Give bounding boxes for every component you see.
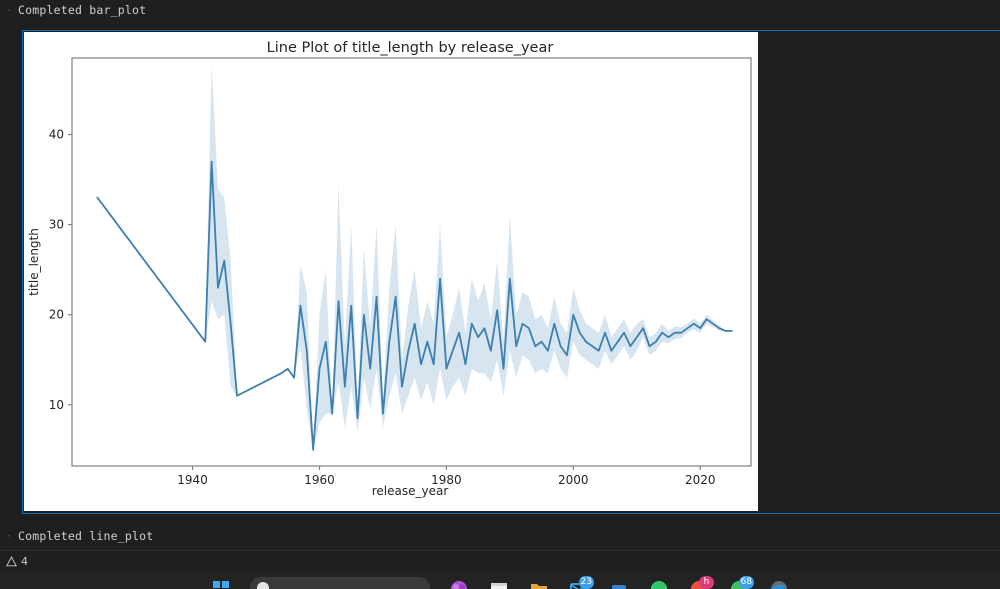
console-log-line-line-plot: · Completed line_plot [0,526,153,546]
log-message-text: Completed line_plot [18,529,153,543]
x-tick-label: 1940 [177,473,208,487]
y-axis-label: title_length [27,228,41,296]
status-bar: 4 [0,550,1000,571]
matplotlib-figure-output[interactable]: Line Plot of title_length by release_yea… [24,32,758,511]
warning-triangle-icon [6,556,17,567]
windows-start-icon[interactable] [210,577,232,589]
vscode-notebook-window: · Completed bar_plot Line Plot of title_… [0,0,1000,589]
warning-count-label: 4 [21,555,28,568]
file-explorer-icon[interactable] [488,577,510,589]
chat-badge: h [699,576,714,589]
copilot-icon[interactable] [448,577,470,589]
status-warnings-item[interactable]: 4 [0,551,34,571]
taskbar-search-pill[interactable] [250,577,430,589]
x-tick-label: 2020 [685,473,716,487]
teams-icon[interactable] [608,577,630,589]
mail-badge: 23 [579,576,594,589]
messages-icon[interactable]: 68 [728,577,750,589]
cell-selection-bottom-border [22,513,1000,514]
edge-icon[interactable] [768,577,790,589]
y-tick-label: 30 [49,218,64,232]
log-message-text: Completed bar_plot [18,3,146,17]
windows-taskbar: 23 h [0,571,1000,589]
log-gutter-marker: · [0,531,18,542]
y-tick-label: 40 [49,128,64,142]
x-tick-label: 2000 [558,473,589,487]
mail-icon[interactable]: 23 [568,577,590,589]
line-chart-svg: Line Plot of title_length by release_yea… [24,32,758,511]
y-tick-label: 10 [49,398,64,412]
x-axis-label: release_year [372,484,449,498]
y-tick-label: 20 [49,308,64,322]
chart-title: Line Plot of title_length by release_yea… [267,40,554,56]
search-avatar-icon [257,582,269,589]
x-tick-label: 1960 [304,473,335,487]
log-gutter-marker: · [0,5,18,16]
messages-badge: 68 [739,576,754,589]
console-log-line-bar-plot: · Completed bar_plot [0,0,146,20]
spotify-icon[interactable] [648,577,670,589]
chat-icon[interactable]: h [688,577,710,589]
folder-icon[interactable] [528,577,550,589]
